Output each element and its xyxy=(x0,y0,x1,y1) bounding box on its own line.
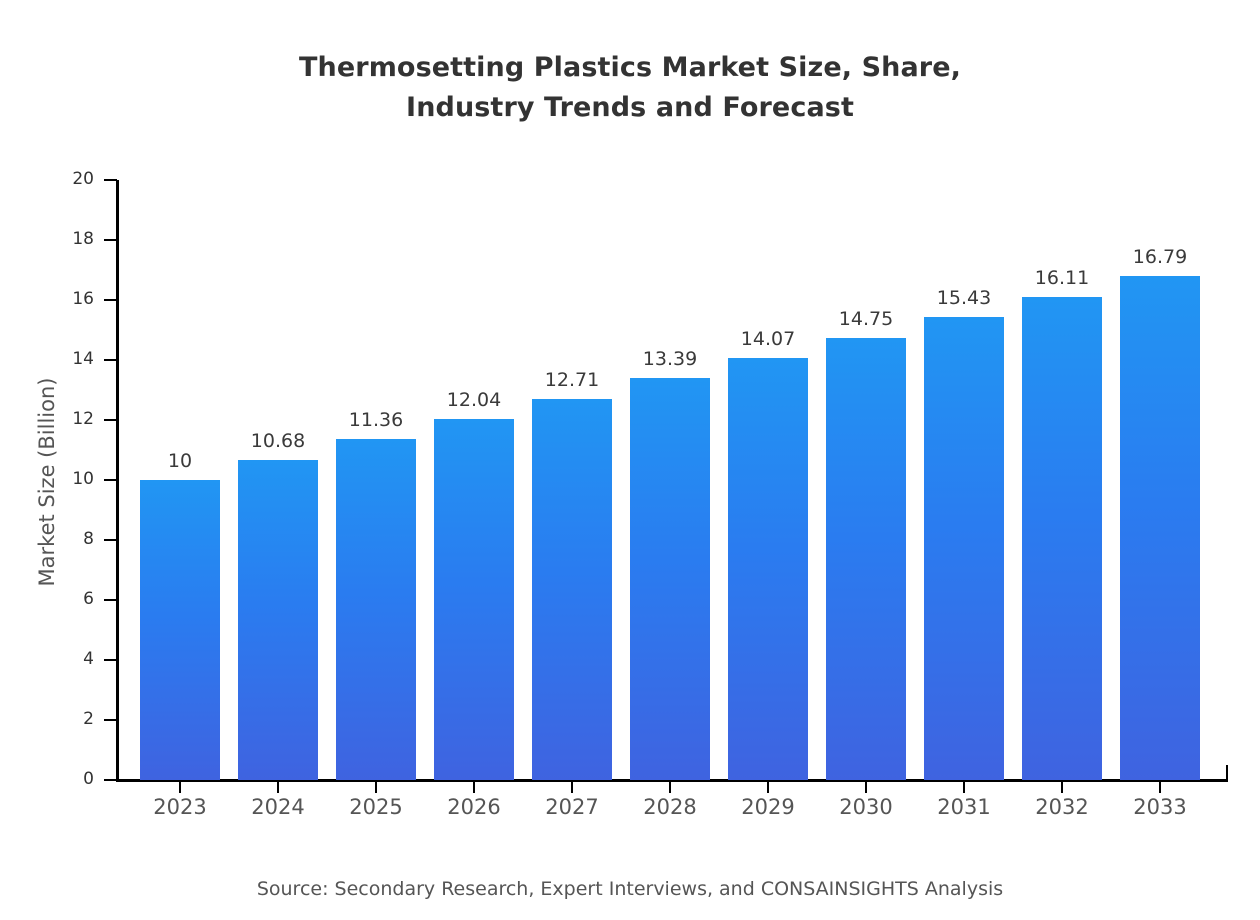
x-tick-mark xyxy=(963,781,965,793)
y-tick-mark xyxy=(104,539,117,541)
bar-value-label-2032: 16.11 xyxy=(992,267,1132,289)
x-tick-mark xyxy=(277,781,279,793)
y-tick-label: 8 xyxy=(24,531,94,548)
bar-value-label-2024: 10.68 xyxy=(208,430,348,452)
bar-value-label-2026: 12.04 xyxy=(404,389,544,411)
bar-2028[interactable] xyxy=(630,378,710,780)
y-tick-label: 12 xyxy=(24,411,94,428)
y-tick-label: 4 xyxy=(24,651,94,668)
y-tick-label: 16 xyxy=(24,291,94,308)
x-tick-mark xyxy=(865,781,867,793)
bar-value-label-2033: 16.79 xyxy=(1090,246,1230,268)
y-tick-label: 2 xyxy=(24,711,94,728)
x-tick-mark xyxy=(669,781,671,793)
chart-title-line-2: Industry Trends and Forecast xyxy=(0,88,1260,128)
x-tick-mark xyxy=(1061,781,1063,793)
x-tick-mark xyxy=(767,781,769,793)
bar-2027[interactable] xyxy=(532,399,612,780)
bar-2030[interactable] xyxy=(826,338,906,781)
bar-2024[interactable] xyxy=(238,460,318,780)
chart-title-line-1: Thermosetting Plastics Market Size, Shar… xyxy=(0,48,1260,88)
y-tick-label: 10 xyxy=(24,471,94,488)
source-note: Source: Secondary Research, Expert Inter… xyxy=(0,878,1260,900)
y-tick-mark xyxy=(104,179,117,181)
x-tick-mark xyxy=(571,781,573,793)
y-tick-mark xyxy=(104,599,117,601)
x-tick-mark xyxy=(179,781,181,793)
y-tick-label: 18 xyxy=(24,231,94,248)
bar-value-label-2027: 12.71 xyxy=(502,369,642,391)
y-tick-label: 0 xyxy=(24,771,94,788)
y-tick-mark xyxy=(104,779,117,781)
bar-2033[interactable] xyxy=(1120,276,1200,780)
bar-2032[interactable] xyxy=(1022,297,1102,780)
bar-2029[interactable] xyxy=(728,358,808,780)
bar-value-label-2028: 13.39 xyxy=(600,348,740,370)
page-title: Thermosetting Plastics Market Size, Shar… xyxy=(0,48,1260,128)
y-tick-mark xyxy=(104,479,117,481)
bar-2023[interactable] xyxy=(140,480,220,780)
y-tick-mark xyxy=(104,419,117,421)
x-tick-mark xyxy=(473,781,475,793)
y-tick-mark xyxy=(104,359,117,361)
y-tick-mark xyxy=(104,659,117,661)
y-tick-mark xyxy=(104,299,117,301)
chart-figure: Thermosetting Plastics Market Size, Shar… xyxy=(0,0,1260,920)
plot-area: 1010.6811.3612.0412.7113.3914.0714.7515.… xyxy=(118,180,1228,780)
y-tick-label: 20 xyxy=(24,171,94,188)
x-tick-mark xyxy=(375,781,377,793)
bar-2026[interactable] xyxy=(434,419,514,780)
bar-value-label-2031: 15.43 xyxy=(894,287,1034,309)
y-tick-label: 6 xyxy=(24,591,94,608)
x-tick-label-2033: 2033 xyxy=(1090,794,1230,820)
y-tick-mark xyxy=(104,719,117,721)
bar-value-label-2025: 11.36 xyxy=(306,409,446,431)
y-tick-label: 14 xyxy=(24,351,94,368)
x-tick-mark xyxy=(1159,781,1161,793)
y-tick-mark xyxy=(104,239,117,241)
bar-value-label-2029: 14.07 xyxy=(698,328,838,350)
bar-2031[interactable] xyxy=(924,317,1004,780)
bar-2025[interactable] xyxy=(336,439,416,780)
bar-value-label-2030: 14.75 xyxy=(796,308,936,330)
bar-value-label-2023: 10 xyxy=(110,450,250,472)
